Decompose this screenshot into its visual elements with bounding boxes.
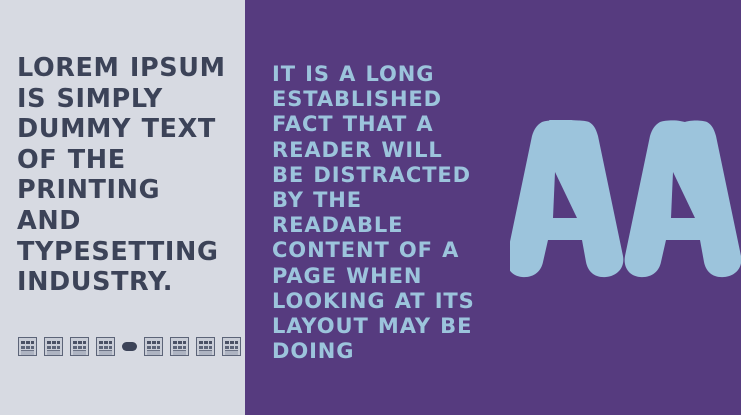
glyph-a-second bbox=[625, 120, 741, 277]
glyph-strip bbox=[18, 337, 241, 356]
missing-glyph-box bbox=[18, 337, 37, 356]
missing-glyph-box bbox=[170, 337, 189, 356]
missing-glyph-box bbox=[222, 337, 241, 356]
left-light-panel: Lorem ipsum is simply dummy text of the … bbox=[0, 0, 245, 415]
paragraph-sample-text: It is a long established fact that a rea… bbox=[272, 62, 484, 364]
missing-glyph-box bbox=[96, 337, 115, 356]
big-letters-specimen bbox=[510, 120, 741, 280]
missing-glyph-box bbox=[44, 337, 63, 356]
missing-glyph-box bbox=[70, 337, 89, 356]
missing-glyph-box bbox=[196, 337, 215, 356]
hyphen-glyph bbox=[122, 342, 137, 351]
missing-glyph-box bbox=[144, 337, 163, 356]
font-specimen-page: Lorem ipsum is simply dummy text of the … bbox=[0, 0, 741, 415]
glyph-a-first bbox=[510, 120, 623, 277]
right-purple-panel: It is a long established fact that a rea… bbox=[245, 0, 741, 415]
left-sample-text: Lorem ipsum is simply dummy text of the … bbox=[17, 53, 232, 298]
